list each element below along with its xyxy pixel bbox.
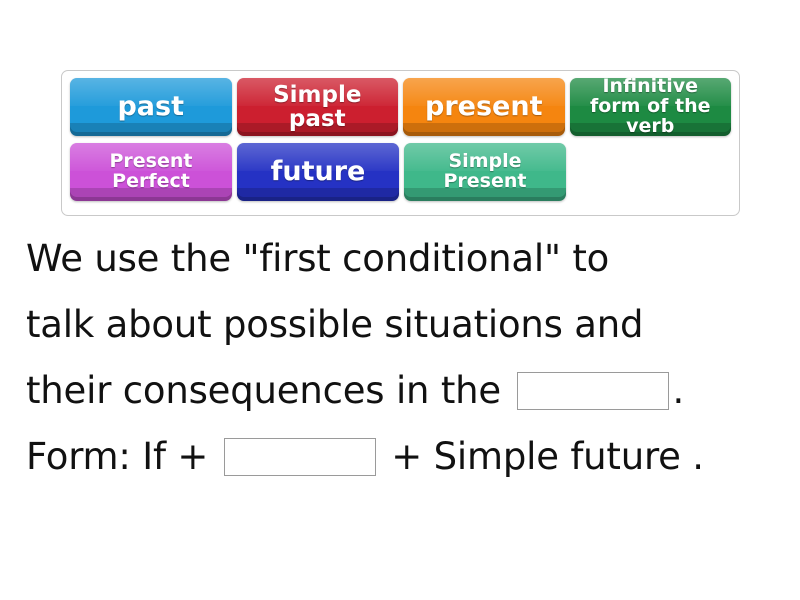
exercise-sentence: We use the "first conditional" to talk a… (26, 226, 786, 490)
tile-present-perfect[interactable]: Present Perfect (70, 143, 232, 201)
tile-infinitive-form-of-the-verb[interactable]: Infinitive form of the verb (570, 78, 732, 136)
sentence-line-4: Form: If + + Simple future . (26, 424, 786, 490)
sentence-line-2: talk about possible situations and (26, 292, 786, 358)
tile-row: Present Perfect future Simple Present (70, 143, 731, 201)
tile-simple-present[interactable]: Simple Present (404, 143, 566, 201)
tile-label: past (117, 93, 184, 121)
tile-label: future (271, 158, 366, 186)
sentence-text: We use the "first conditional" to (26, 237, 609, 280)
sentence-line-1: We use the "first conditional" to (26, 226, 786, 292)
sentence-text: talk about possible situations and (26, 303, 643, 346)
tile-past[interactable]: past (70, 78, 232, 136)
tile-label: Present Perfect (76, 152, 226, 192)
sentence-text: their consequences in the (26, 369, 513, 412)
tile-row: past Simple past present Infinitive form… (70, 78, 731, 136)
tile-label: present (425, 93, 542, 121)
tile-label: Simple Present (410, 152, 560, 192)
sentence-text: . (673, 369, 685, 412)
tile-present[interactable]: present (403, 78, 565, 136)
tile-label: Simple past (243, 83, 393, 131)
drop-blank-1[interactable] (517, 372, 669, 410)
tile-simple-past[interactable]: Simple past (237, 78, 399, 136)
sentence-text: Form: If + (26, 435, 220, 478)
tile-label: Infinitive form of the verb (576, 78, 726, 136)
sentence-text: + Simple future . (380, 435, 704, 478)
sentence-line-3: their consequences in the . (26, 358, 786, 424)
draggable-tile-bank[interactable]: past Simple past present Infinitive form… (61, 70, 740, 216)
drop-blank-2[interactable] (224, 438, 376, 476)
tile-future[interactable]: future (237, 143, 399, 201)
